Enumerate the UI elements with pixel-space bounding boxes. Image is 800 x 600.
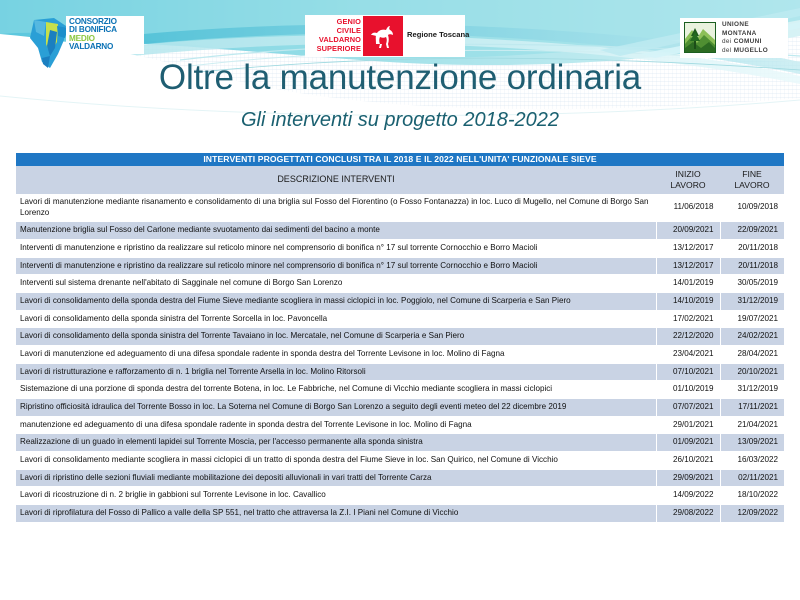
row-description: Lavori di ristrutturazione e rafforzamen… (16, 363, 656, 381)
row-start-date: 07/07/2021 (656, 399, 720, 417)
row-description: Manutenzione briglia sul Fosso del Carlo… (16, 222, 656, 240)
row-end-date: 19/07/2021 (720, 310, 784, 328)
row-start-date: 20/09/2021 (656, 222, 720, 240)
row-end-date: 22/09/2021 (720, 222, 784, 240)
table-row: Lavori di riprofilatura del Fosso di Pal… (16, 505, 784, 523)
table-row: Lavori di consolidamento mediante scogli… (16, 452, 784, 470)
row-description: Lavori di consolidamento mediante scogli… (16, 452, 656, 470)
table-banner-title: INTERVENTI PROGETTATI CONCLUSI TRA IL 20… (16, 153, 784, 166)
row-start-date: 14/09/2022 (656, 487, 720, 505)
row-end-date: 30/05/2019 (720, 275, 784, 293)
row-start-date: 29/01/2021 (656, 416, 720, 434)
unione-line-2: MONTANA (722, 30, 768, 39)
table-banner-row: INTERVENTI PROGETTATI CONCLUSI TRA IL 20… (16, 153, 784, 166)
unione-line-4: del MUGELLO (722, 47, 768, 56)
table-row: Interventi di manutenzione e ripristino … (16, 240, 784, 258)
table-row: Lavori di consolidamento della sponda si… (16, 310, 784, 328)
row-end-date: 18/10/2022 (720, 487, 784, 505)
unione-montana-dei-comuni-del-mugello-logo: UNIONE MONTANA dei COMUNI del MUGELLO (680, 18, 788, 58)
row-description: manutenzione ed adeguamento di una difes… (16, 416, 656, 434)
unione-line-3: dei COMUNI (722, 38, 768, 47)
consorzio-line-4: VALDARNO (69, 43, 142, 51)
row-end-date: 02/11/2021 (720, 469, 784, 487)
row-start-date: 26/10/2021 (656, 452, 720, 470)
row-start-date: 22/12/2020 (656, 328, 720, 346)
row-end-date: 20/10/2021 (720, 363, 784, 381)
genio-line-1: GENIO (309, 17, 361, 26)
column-header-end: FINE LAVORO (720, 166, 784, 194)
table-row: Ripristino officiosità idraulica del Tor… (16, 399, 784, 417)
pegasus-crest-icon (363, 16, 403, 56)
table-header-row: DESCRIZIONE INTERVENTI INIZIO LAVORO FIN… (16, 166, 784, 194)
page-title: Oltre la manutenzione ordinaria (0, 60, 800, 95)
interventions-table-container: INTERVENTI PROGETTATI CONCLUSI TRA IL 20… (16, 153, 784, 523)
consorzio-logo-text: CONSORZIO DI BONIFICA MEDIO VALDARNO (66, 16, 144, 54)
row-start-date: 23/04/2021 (656, 346, 720, 364)
row-end-date: 20/11/2018 (720, 240, 784, 258)
row-description: Interventi sul sistema drenante nell'abi… (16, 275, 656, 293)
table-row: Lavori di manutenzione ed adeguamento di… (16, 346, 784, 364)
table-row: Sistemazione di una porzione di sponda d… (16, 381, 784, 399)
column-header-description: DESCRIZIONE INTERVENTI (16, 166, 656, 194)
row-description: Lavori di riprofilatura del Fosso di Pal… (16, 505, 656, 523)
row-start-date: 13/12/2017 (656, 240, 720, 258)
row-start-date: 14/01/2019 (656, 275, 720, 293)
table-row: Lavori di ristrutturazione e rafforzamen… (16, 363, 784, 381)
row-description: Interventi di manutenzione e ripristino … (16, 240, 656, 258)
row-end-date: 20/11/2018 (720, 257, 784, 275)
table-row: Lavori di consolidamento della sponda si… (16, 328, 784, 346)
table-row: Interventi sul sistema drenante nell'abi… (16, 275, 784, 293)
genio-line-4: SUPERIORE (309, 44, 361, 53)
row-description: Lavori di consolidamento della sponda si… (16, 310, 656, 328)
regione-toscana-label: Regione Toscana (407, 30, 469, 39)
interventions-table: INTERVENTI PROGETTATI CONCLUSI TRA IL 20… (16, 153, 784, 523)
row-end-date: 17/11/2021 (720, 399, 784, 417)
page-subtitle: Gli interventi su progetto 2018-2022 (0, 110, 800, 130)
row-description: Lavori di ripristino delle sezioni fluvi… (16, 469, 656, 487)
row-end-date: 16/03/2022 (720, 452, 784, 470)
row-start-date: 01/09/2021 (656, 434, 720, 452)
row-end-date: 10/09/2018 (720, 194, 784, 222)
row-start-date: 17/02/2021 (656, 310, 720, 328)
row-start-date: 13/12/2017 (656, 257, 720, 275)
row-description: Ripristino officiosità idraulica del Tor… (16, 399, 656, 417)
mountain-forest-icon (684, 22, 716, 53)
row-description: Lavori di manutenzione ed adeguamento di… (16, 346, 656, 364)
row-end-date: 31/12/2019 (720, 293, 784, 311)
unione-line-1: UNIONE (722, 21, 768, 30)
row-start-date: 29/09/2021 (656, 469, 720, 487)
table-row: Interventi di manutenzione e ripristino … (16, 257, 784, 275)
row-description: Realizzazione di un guado in elementi la… (16, 434, 656, 452)
row-description: Lavori di ricostruzione di n. 2 briglie … (16, 487, 656, 505)
row-start-date: 11/06/2018 (656, 194, 720, 222)
row-description: Lavori di consolidamento della sponda de… (16, 293, 656, 311)
table-row: Lavori di consolidamento della sponda de… (16, 293, 784, 311)
row-end-date: 12/09/2022 (720, 505, 784, 523)
row-description: Sistemazione di una porzione di sponda d… (16, 381, 656, 399)
row-description: Lavori di manutenzione mediante risaname… (16, 194, 656, 222)
row-end-date: 31/12/2019 (720, 381, 784, 399)
table-body: Lavori di manutenzione mediante risaname… (16, 194, 784, 522)
table-row: Lavori di manutenzione mediante risaname… (16, 194, 784, 222)
unione-logo-text: UNIONE MONTANA dei COMUNI del MUGELLO (722, 21, 768, 55)
column-header-start: INIZIO LAVORO (656, 166, 720, 194)
row-end-date: 24/02/2021 (720, 328, 784, 346)
row-start-date: 07/10/2021 (656, 363, 720, 381)
row-start-date: 01/10/2019 (656, 381, 720, 399)
table-row: Realizzazione di un guado in elementi la… (16, 434, 784, 452)
genio-line-2: CIVILE (309, 26, 361, 35)
genio-line-3: VALDARNO (309, 35, 361, 44)
table-row: Manutenzione briglia sul Fosso del Carlo… (16, 222, 784, 240)
row-start-date: 14/10/2019 (656, 293, 720, 311)
row-start-date: 29/08/2022 (656, 505, 720, 523)
table-row: Lavori di ricostruzione di n. 2 briglie … (16, 487, 784, 505)
genio-civile-valdarno-superiore-logo: GENIO CIVILE VALDARNO SUPERIORE Regione … (305, 15, 465, 57)
row-description: Interventi di manutenzione e ripristino … (16, 257, 656, 275)
genio-civile-text: GENIO CIVILE VALDARNO SUPERIORE (309, 17, 361, 53)
row-end-date: 21/04/2021 (720, 416, 784, 434)
row-end-date: 28/04/2021 (720, 346, 784, 364)
table-row: manutenzione ed adeguamento di una difes… (16, 416, 784, 434)
table-row: Lavori di ripristino delle sezioni fluvi… (16, 469, 784, 487)
row-description: Lavori di consolidamento della sponda si… (16, 328, 656, 346)
row-end-date: 13/09/2021 (720, 434, 784, 452)
